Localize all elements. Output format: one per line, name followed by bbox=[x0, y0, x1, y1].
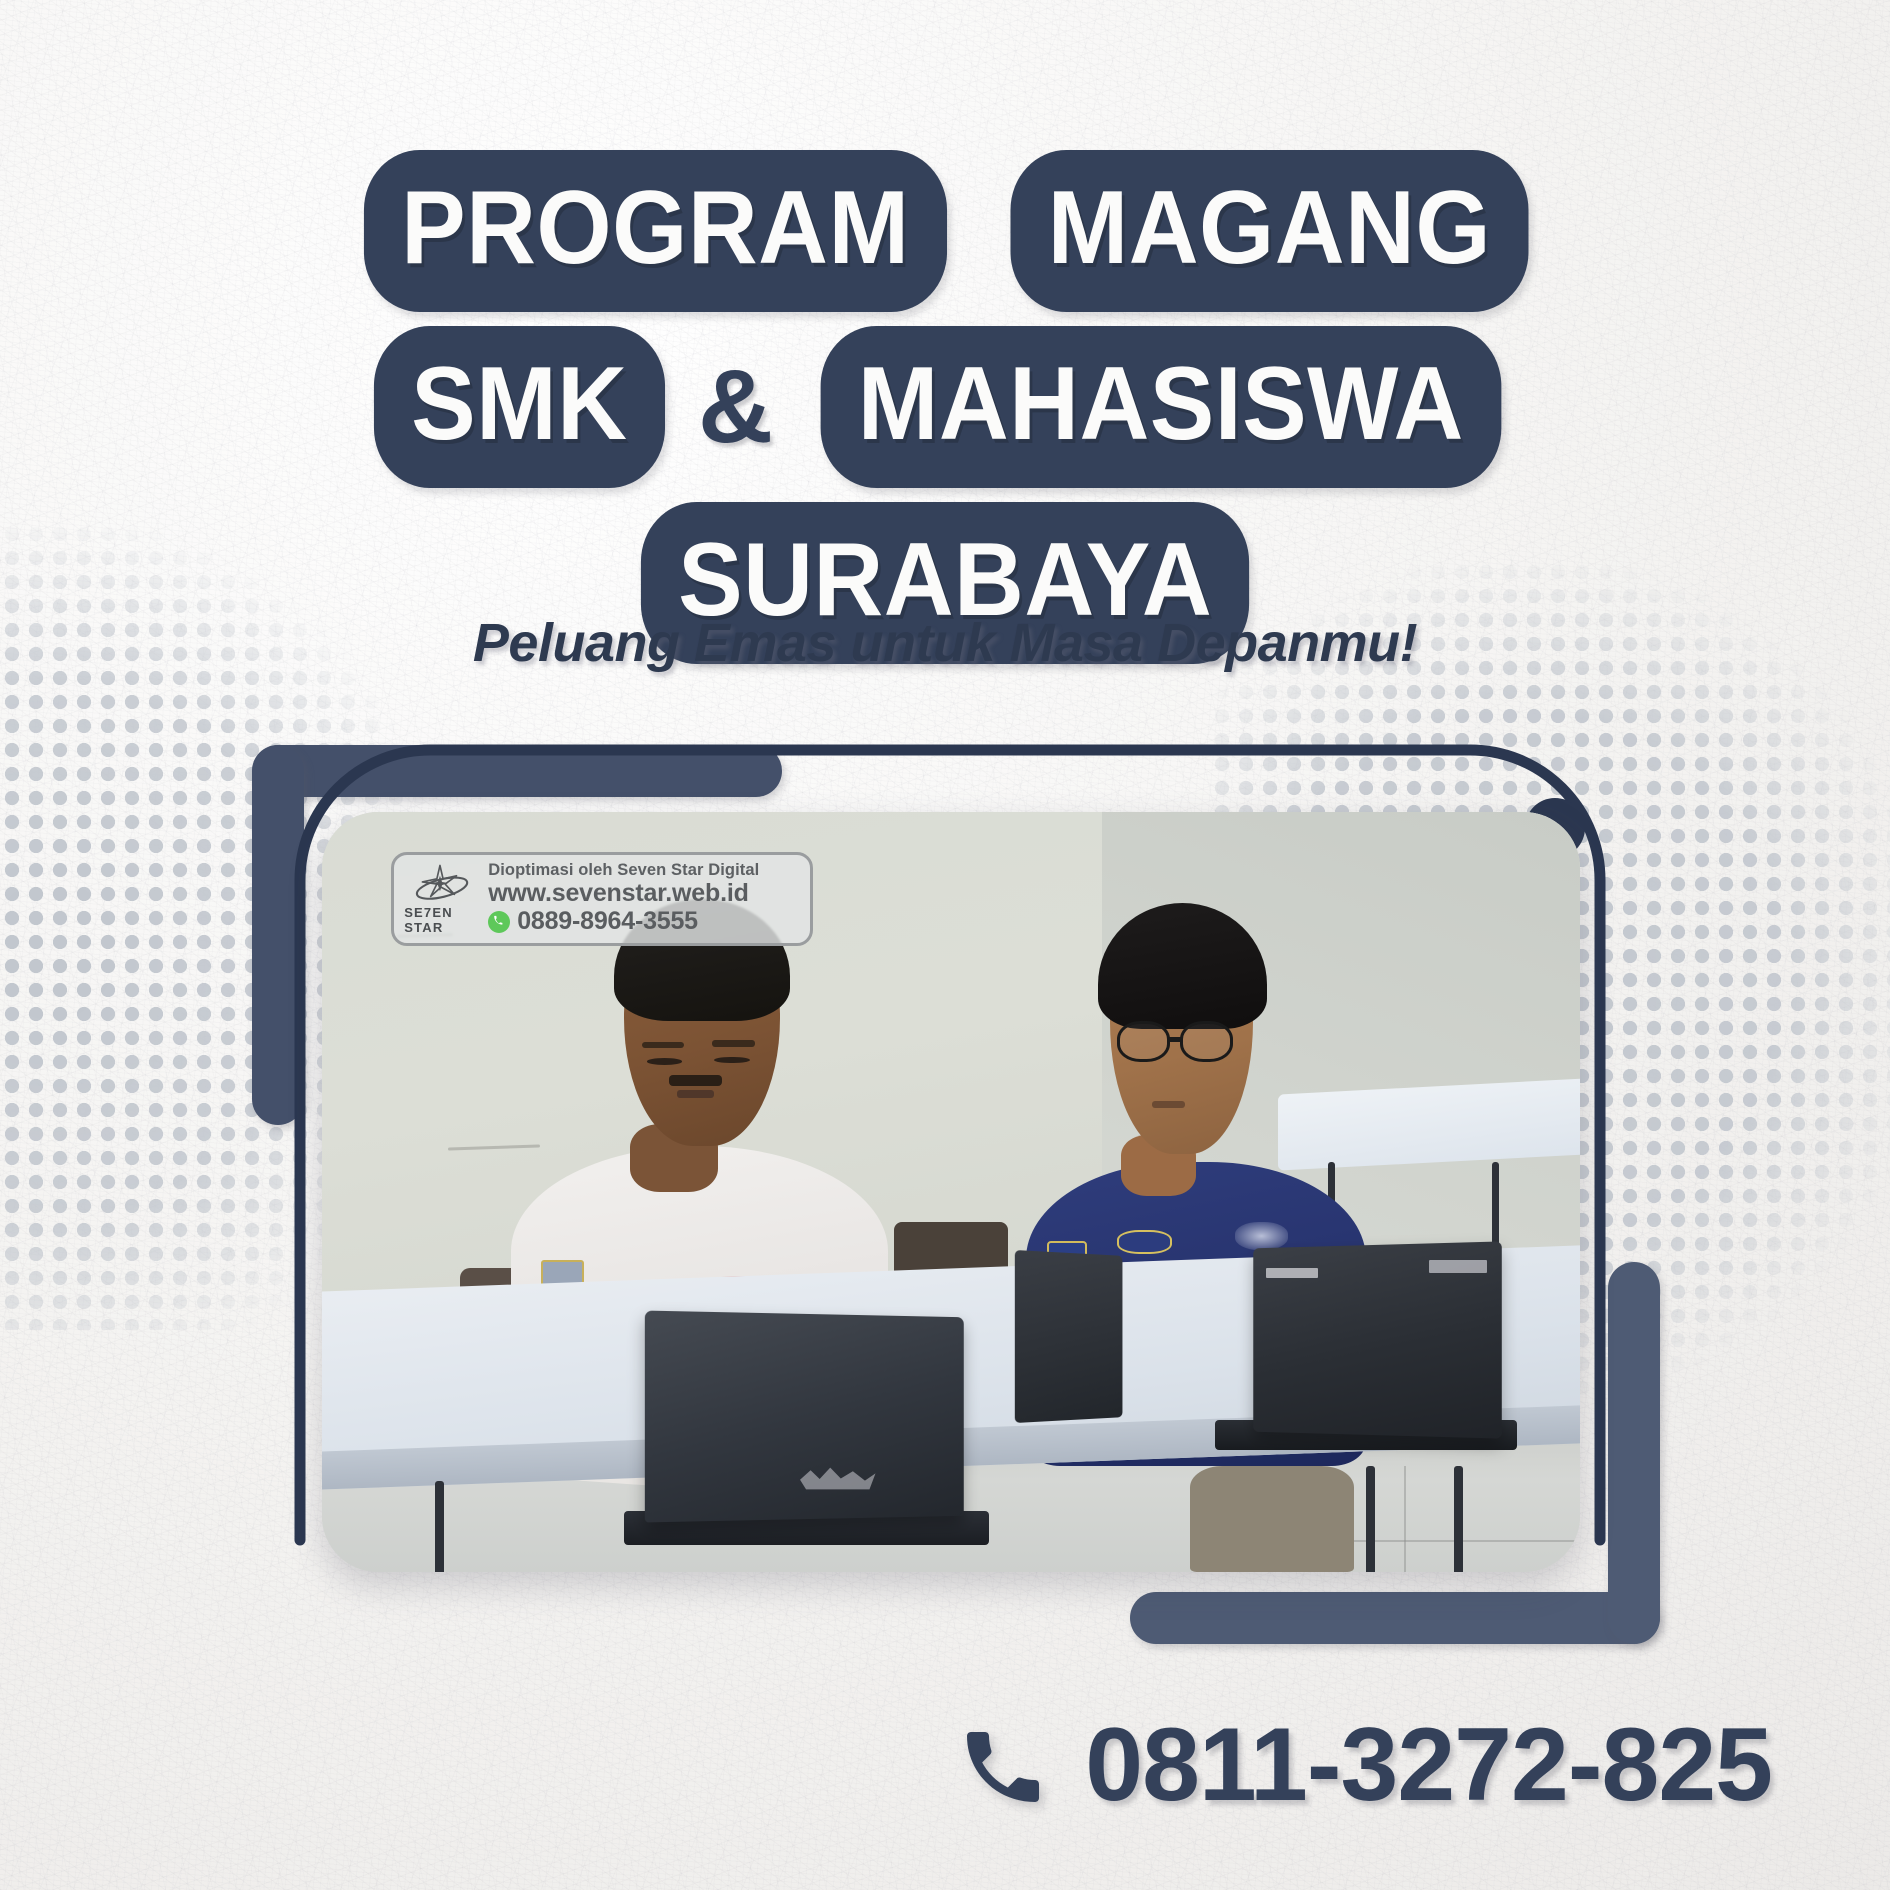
seven-star-logo-icon bbox=[410, 862, 472, 904]
watermark-whatsapp-row: 0889-8964-3555 bbox=[488, 907, 799, 936]
photo-person-mhs-glasses-left bbox=[1117, 1021, 1170, 1062]
photo-person-mhs-mouth bbox=[1152, 1101, 1185, 1108]
phone-handset-icon bbox=[955, 1718, 1051, 1814]
watermark-whatsapp-number: 0889-8964-3555 bbox=[517, 907, 698, 936]
photo-laptop-thinkpad-label bbox=[1266, 1268, 1319, 1278]
frame-bracket-bottom-right-horizontal bbox=[1130, 1592, 1660, 1644]
photo-person-smk-mouth bbox=[677, 1090, 715, 1098]
watermark-badge: SE7EN STAR Dioptimasi oleh Seven Star Di… bbox=[391, 852, 812, 946]
photo-person-mhs-glasses-right bbox=[1180, 1021, 1233, 1062]
photo-person-smk-moustache bbox=[669, 1075, 722, 1086]
photo-person-smk-brow bbox=[642, 1042, 685, 1049]
photo-frame-assembly: SE7EN STAR Dioptimasi oleh Seven Star Di… bbox=[0, 0, 1890, 1890]
watermark-credit-line: Dioptimasi oleh Seven Star Digital bbox=[488, 861, 799, 880]
frame-bracket-top-left-horizontal bbox=[252, 745, 782, 797]
photo-uniform-informatics-badge bbox=[1117, 1230, 1172, 1254]
photo-person-smk-brow bbox=[712, 1040, 755, 1047]
photo-person-smk-eye bbox=[714, 1057, 749, 1063]
photo-table-leg bbox=[1366, 1466, 1375, 1572]
poster-canvas: PROGRAM MAGANG SMK & MAHASISWA SURABAYA … bbox=[0, 0, 1890, 1890]
photo-person-mhs-glasses-bridge bbox=[1169, 1037, 1183, 1042]
watermark-logo: SE7EN STAR bbox=[404, 862, 478, 935]
frame-bracket-top-left-vertical bbox=[252, 745, 304, 1125]
photo-table-leg bbox=[435, 1481, 444, 1572]
photo-person-smk-eye bbox=[647, 1058, 682, 1064]
whatsapp-phone-icon bbox=[488, 911, 510, 933]
contact-phone-number: 0811-3272-825 bbox=[1085, 1706, 1772, 1825]
photo-scene: SE7EN STAR Dioptimasi oleh Seven Star Di… bbox=[322, 812, 1580, 1572]
contact-phone-bar[interactable]: 0811-3272-825 bbox=[0, 1706, 1890, 1825]
internship-photo: SE7EN STAR Dioptimasi oleh Seven Star Di… bbox=[322, 812, 1580, 1572]
photo-uniform-chest-logo bbox=[1235, 1222, 1288, 1249]
photo-laptop-asus-screen bbox=[645, 1310, 964, 1522]
photo-floor-tile-line bbox=[1404, 1466, 1406, 1572]
frame-bracket-bottom-right-vertical bbox=[1608, 1262, 1660, 1644]
watermark-website: www.sevenstar.web.id bbox=[488, 880, 799, 907]
photo-table-leg bbox=[1454, 1466, 1463, 1572]
photo-person-mhs-trousers bbox=[1190, 1466, 1354, 1572]
watermark-brand-name: SE7EN STAR bbox=[404, 905, 478, 935]
photo-laptop-third bbox=[1015, 1250, 1123, 1423]
watermark-text-block: Dioptimasi oleh Seven Star Digital www.s… bbox=[488, 861, 799, 936]
photo-laptop-lenovo-label bbox=[1429, 1260, 1487, 1272]
